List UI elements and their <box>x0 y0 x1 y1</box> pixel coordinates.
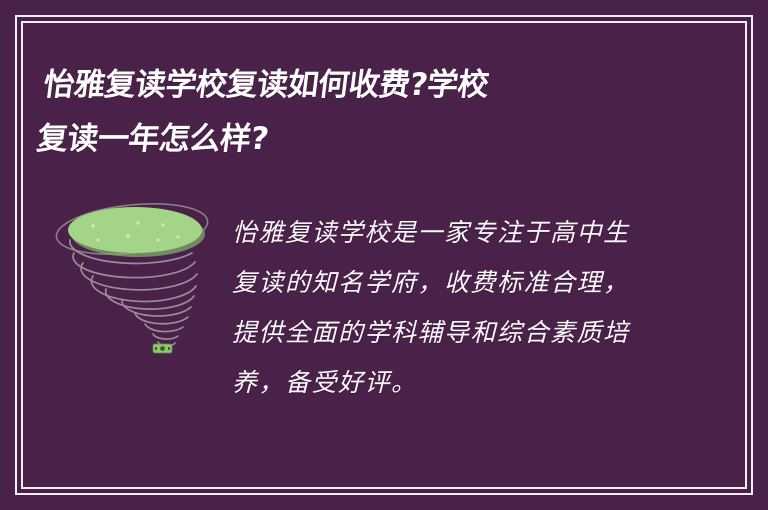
page-title: 怡雅复读学校复读如何收费?学校 复读一年怎么样? <box>34 58 647 166</box>
tornado-illustration <box>50 196 220 376</box>
money-tornado-icon <box>50 196 220 376</box>
body-paragraph: 怡雅复读学校是一家专注于高中生复读的知名学府，收费标准合理，提供全面的学科辅导和… <box>232 208 652 408</box>
tornado-top-disc <box>68 207 202 253</box>
poster-canvas: 怡雅复读学校复读如何收费?学校 复读一年怎么样? <box>0 0 768 510</box>
money-bill-icon <box>153 344 172 353</box>
